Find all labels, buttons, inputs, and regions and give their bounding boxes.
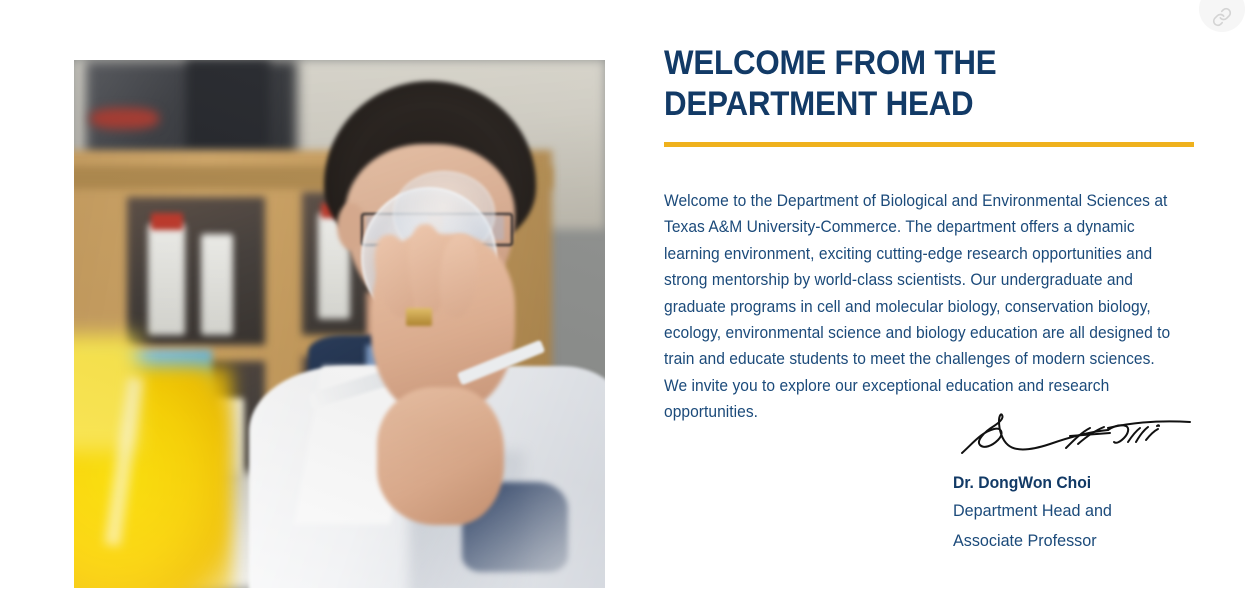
welcome-paragraph: Welcome to the Department of Biological …	[664, 188, 1172, 426]
signature-icon	[958, 412, 1198, 464]
signature-block: Dr. DongWon Choi Department Head and Ass…	[953, 412, 1198, 556]
link-icon	[1212, 7, 1232, 27]
signature-title-line-1: Department Head and	[953, 496, 1186, 526]
page-title: Welcome from the Department Head	[664, 43, 1060, 125]
department-head-photo	[74, 60, 605, 588]
photo-illustration	[74, 60, 605, 588]
welcome-page: Welcome from the Department Head Welcome…	[0, 0, 1248, 613]
article-column: Welcome from the Department Head Welcome…	[664, 0, 1194, 613]
gold-divider	[664, 142, 1194, 147]
signature-title-line-2: Associate Professor	[953, 526, 1186, 556]
two-column-layout: Welcome from the Department Head Welcome…	[0, 0, 1248, 613]
signature-name: Dr. DongWon Choi	[953, 470, 1186, 496]
